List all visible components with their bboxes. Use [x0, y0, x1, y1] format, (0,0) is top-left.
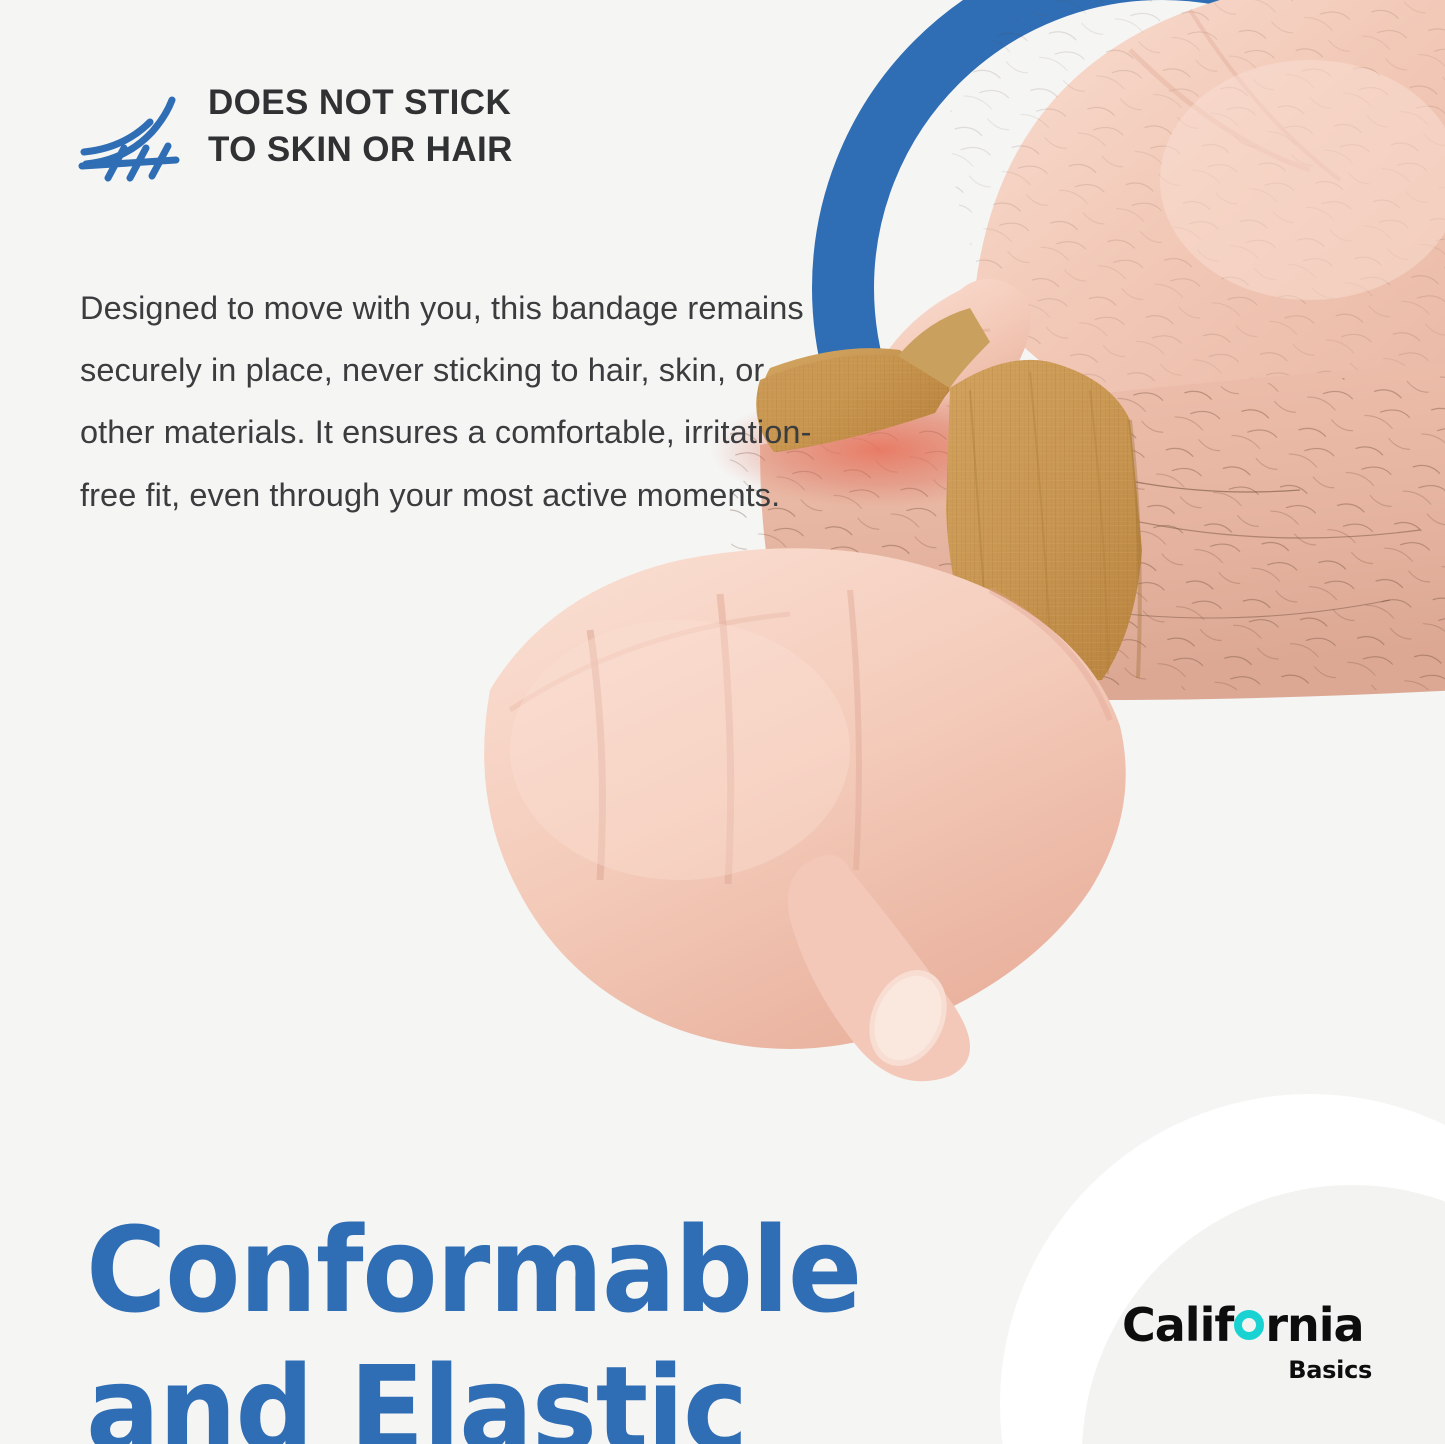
blue-ring-decoration: [812, 0, 1445, 638]
feature-description: Designed to move with you, this bandage …: [80, 277, 830, 527]
brand-name: Calif rnia: [1122, 1302, 1374, 1348]
brand-o-ring-icon: [1234, 1310, 1264, 1340]
brand-subtitle: Basics: [1122, 1356, 1374, 1384]
brand-logo: Calif rnia Basics: [1122, 1302, 1374, 1384]
product-feature-card: DOES NOT STICK TO SKIN OR HAIR Designed …: [0, 0, 1445, 1444]
feature-title: DOES NOT STICK TO SKIN OR HAIR: [208, 74, 513, 173]
feature-header: DOES NOT STICK TO SKIN OR HAIR: [78, 74, 718, 186]
brand-name-part-2: rnia: [1265, 1302, 1363, 1348]
brand-name-part-1: Calif: [1122, 1302, 1233, 1348]
headline: Conformable and Elastic: [86, 1201, 861, 1444]
no-stick-bandage-hair-icon: [78, 86, 186, 186]
